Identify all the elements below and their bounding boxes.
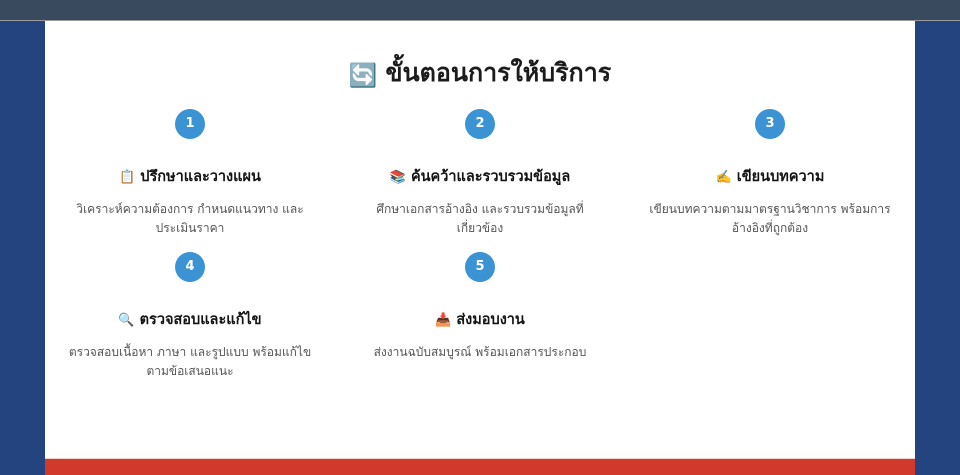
step-number-badge-5: 5 [465, 252, 495, 282]
page-title: 🔄ขั้นตอนการให้บริการ [45, 56, 915, 93]
service-steps-card: 🔄ขั้นตอนการให้บริการ 1 📋ปรึกษาและวางแผน … [45, 21, 915, 458]
step-number-badge-1: 1 [175, 109, 205, 139]
step-title-text-1: ปรึกษาและวางแผน [140, 169, 261, 185]
magnifying-glass-icon: 🔍 [118, 313, 134, 328]
step-title-text-2: ค้นคว้าและรวบรวมข้อมูล [411, 169, 570, 185]
cycle-refresh-icon: 🔄 [349, 63, 378, 89]
step-title-text-3: เขียนบทความ [737, 169, 825, 185]
page-title-text: ขั้นตอนการให้บริการ [385, 58, 611, 87]
step-description-5: ส่งงานฉบับสมบูรณ์ พร้อมเอกสารประกอบ [357, 343, 603, 362]
step-title-4: 🔍ตรวจสอบและแก้ไข [67, 310, 313, 331]
page-root: 🔄ขั้นตอนการให้บริการ 1 📋ปรึกษาและวางแผน … [0, 0, 960, 475]
step-number-badge-4: 4 [175, 252, 205, 282]
steps-grid: 1 📋ปรึกษาและวางแผน วิเคราะห์ความต้องการ … [45, 109, 915, 395]
step-item-4: 4 🔍ตรวจสอบและแก้ไข ตรวจสอบเนื้อหา ภาษา แ… [45, 252, 335, 381]
step-item-1: 1 📋ปรึกษาและวางแผน วิเคราะห์ความต้องการ … [45, 109, 335, 238]
inbox-tray-icon: 📥 [435, 313, 451, 328]
step-item-2: 2 📚ค้นคว้าและรวบรวมข้อมูล ศึกษาเอกสารอ้า… [335, 109, 625, 238]
step-item-3: 3 ✍️เขียนบทความ เขียนบทความตามมาตรฐานวิช… [625, 109, 915, 238]
step-description-3: เขียนบทความตามมาตรฐานวิชาการ พร้อมการอ้า… [647, 200, 893, 238]
step-title-1: 📋ปรึกษาและวางแผน [67, 167, 313, 188]
writing-hand-icon: ✍️ [716, 170, 732, 185]
step-description-4: ตรวจสอบเนื้อหา ภาษา และรูปแบบ พร้อมแก้ไข… [67, 343, 313, 381]
step-title-text-5: ส่งมอบงาน [456, 312, 525, 328]
step-description-2: ศึกษาเอกสารอ้างอิง และรวบรวมข้อมูลที่เกี… [357, 200, 603, 238]
clipboard-icon: 📋 [119, 170, 135, 185]
step-title-2: 📚ค้นคว้าและรวบรวมข้อมูล [357, 167, 603, 188]
footer-accent-bar [45, 458, 915, 475]
step-number-badge-3: 3 [755, 109, 785, 139]
browser-top-bar [0, 0, 960, 21]
step-title-text-4: ตรวจสอบและแก้ไข [140, 312, 262, 328]
step-item-5: 5 📥ส่งมอบงาน ส่งงานฉบับสมบูรณ์ พร้อมเอกส… [335, 252, 625, 381]
step-number-badge-2: 2 [465, 109, 495, 139]
step-title-5: 📥ส่งมอบงาน [357, 310, 603, 331]
books-icon: 📚 [390, 170, 406, 185]
step-description-1: วิเคราะห์ความต้องการ กำหนดแนวทาง และประเ… [67, 200, 313, 238]
step-title-3: ✍️เขียนบทความ [647, 167, 893, 188]
